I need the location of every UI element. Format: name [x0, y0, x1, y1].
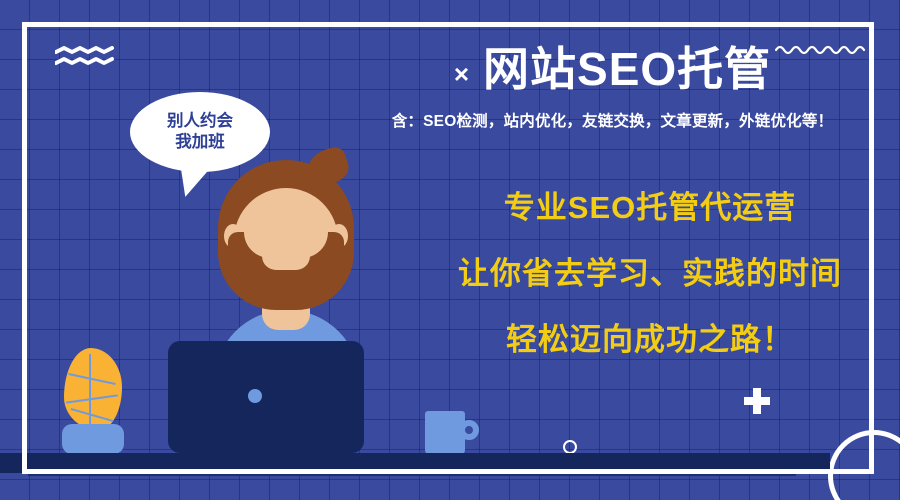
selling-point-1: 专业SEO托管代运营: [415, 192, 885, 223]
laptop-icon: [168, 341, 364, 453]
speech-bubble-text: 别人约会 我加班: [167, 111, 233, 154]
desk-shadow: [28, 471, 796, 476]
laptop-logo-dot: [248, 389, 262, 403]
mouth: [262, 256, 310, 270]
speech-bubble-line-1: 别人约会: [167, 111, 233, 132]
plant-pot: [62, 424, 124, 454]
plant-leaf: [64, 348, 122, 430]
small-circle-icon: [563, 440, 577, 454]
speech-bubble-line-2: 我加班: [167, 132, 233, 153]
headline-block: × 网站SEO托管 含：SEO检测，站内优化，友链交换，文章更新，外链优化等！: [340, 44, 885, 131]
close-icon: ×: [454, 61, 469, 87]
large-circle-outline-icon: [828, 430, 900, 500]
wave-lines-icon: [55, 46, 115, 68]
selling-point-2: 让你省去学习、实践的时间: [415, 258, 885, 289]
coffee-mug-icon: [425, 411, 481, 455]
desk-surface: [0, 453, 830, 473]
headline-row: × 网站SEO托管: [340, 44, 885, 96]
page-subtitle: 含：SEO检测，站内优化，友链交换，文章更新，外链优化等！: [340, 109, 885, 131]
hair-tuft: [302, 144, 352, 189]
selling-point-3: 轻松迈向成功之路！: [415, 324, 885, 355]
plus-icon: [744, 388, 770, 414]
selling-points-list: 专业SEO托管代运营 让你省去学习、实践的时间 轻松迈向成功之路！: [415, 192, 885, 355]
face-lower: [244, 232, 328, 258]
page-title: 网站SEO托管: [483, 44, 771, 96]
mug-handle: [459, 420, 479, 440]
potted-plant-icon: [54, 348, 134, 456]
seo-hosting-banner: × 网站SEO托管 含：SEO检测，站内优化，友链交换，文章更新，外链优化等！ …: [0, 0, 900, 500]
plant-vein: [89, 354, 91, 428]
